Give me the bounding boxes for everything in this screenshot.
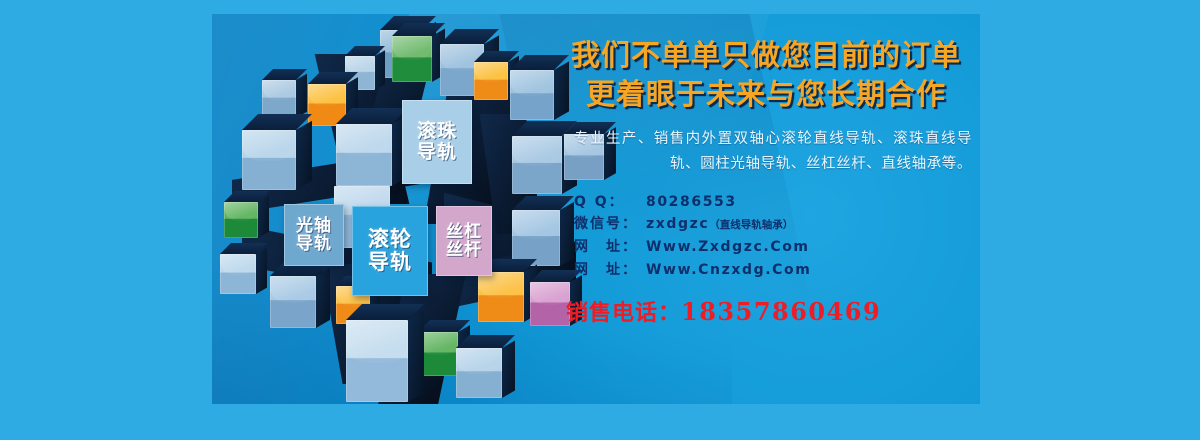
product-label-line: 丝杆	[446, 241, 482, 259]
contact-value-qq[interactable]: 80286553	[646, 191, 737, 214]
contact-label: Q Q：	[574, 191, 646, 214]
cube-front-face	[392, 36, 432, 82]
contact-value-wechat[interactable]: zxdgzc	[646, 213, 709, 236]
cube-green	[418, 332, 458, 376]
cube-front-face	[262, 80, 296, 118]
contact-note-wechat: （直线导轨轴承）	[709, 217, 793, 234]
cube-side-face	[256, 248, 267, 294]
contact-label: 微信号：	[574, 213, 646, 236]
cube-front-face	[336, 124, 392, 186]
cube	[262, 80, 296, 118]
cube-front-face	[456, 348, 502, 398]
cube-front-face	[474, 62, 508, 100]
product-label-line: 导轨	[417, 142, 457, 163]
product-label-line: 导轨	[368, 251, 412, 274]
banner-panel: 滚珠 导轨 光轴 导轨 滚轮 导轨 丝杠 丝杆 我们不单单只做您目前的订单 更着…	[212, 14, 980, 404]
cube	[336, 124, 392, 186]
cube-front-face	[270, 276, 316, 328]
product-label-gunlun-daogui[interactable]: 滚轮 导轨	[352, 206, 428, 296]
cube	[242, 130, 296, 190]
cube-front-face	[478, 272, 524, 322]
contact-row-wechat: 微信号： zxdgzc （直线导轨轴承）	[574, 213, 980, 236]
product-label-line: 滚珠	[417, 121, 457, 142]
cube-front-face	[220, 254, 256, 294]
product-label-guangzhou-daogui[interactable]: 光轴 导轨	[284, 204, 344, 266]
cube	[270, 276, 316, 328]
cube-side-face	[258, 196, 269, 238]
product-label-line: 导轨	[296, 235, 332, 253]
description: 专业生产、销售内外置双轴心滚轮直线导轨、滚珠直线导轨、圆柱光轴导轨、丝杠丝杆、直…	[552, 127, 980, 177]
cube-green	[224, 202, 258, 238]
product-label-gunzhu-daogui[interactable]: 滚珠 导轨	[402, 100, 472, 184]
cube-orange	[474, 62, 508, 100]
contact-list: Q Q： 80286553 微信号： zxdgzc （直线导轨轴承） 网 址： …	[552, 191, 980, 282]
contact-value-website-1[interactable]: Www.Zxdgzc.Com	[646, 236, 810, 259]
cube-front-face	[346, 320, 408, 402]
cube-side-face	[316, 268, 330, 328]
description-line: 专业生产、销售内外置双轴心滚轮直线导轨、	[574, 131, 893, 147]
cube-front-face	[224, 202, 258, 238]
contact-label: 网 址：	[574, 259, 646, 282]
headline-line: 更着眼于未来与您长期合作	[552, 75, 980, 114]
contact-row-website-1: 网 址： Www.Zxdgzc.Com	[574, 236, 980, 259]
cube-side-face	[502, 340, 515, 398]
product-label-line: 滚轮	[368, 228, 412, 251]
cube-front-face	[510, 70, 554, 120]
product-label-sigang-sigan[interactable]: 丝杠 丝杆	[436, 206, 492, 276]
contact-row-website-2: 网 址： Www.Cnzxdg.Com	[574, 259, 980, 282]
cube-side-face	[408, 311, 424, 402]
cube-front-face	[242, 130, 296, 190]
product-label-line: 丝杠	[446, 223, 482, 241]
banner-stage: 滚珠 导轨 光轴 导轨 滚轮 导轨 丝杠 丝杆 我们不单单只做您目前的订单 更着…	[0, 0, 1200, 440]
product-label-line: 光轴	[296, 217, 332, 235]
sales-phone[interactable]: 销售电话： 18357860469	[552, 295, 980, 327]
headline-line: 我们不单单只做您目前的订单	[552, 36, 980, 75]
cube-green	[392, 36, 432, 82]
cube-side-face	[375, 50, 385, 90]
description-line: 线轴承等。	[897, 156, 973, 172]
sales-phone-number[interactable]: 18357860469	[681, 297, 881, 326]
cube-side-face	[296, 74, 307, 118]
sales-phone-label: 销售电话：	[566, 295, 681, 327]
cube	[510, 70, 554, 120]
cube	[346, 320, 408, 402]
cube-front-face	[418, 332, 458, 376]
contact-label: 网 址：	[574, 236, 646, 259]
banner-text-column: 我们不单单只做您目前的订单 更着眼于未来与您长期合作 专业生产、销售内外置双轴心…	[552, 36, 980, 396]
cube-side-face	[296, 121, 312, 190]
cube-orange	[478, 272, 524, 322]
cube	[456, 348, 502, 398]
contact-row-qq: Q Q： 80286553	[574, 191, 980, 214]
cube	[220, 254, 256, 294]
contact-value-website-2[interactable]: Www.Cnzxdg.Com	[646, 259, 811, 282]
headline: 我们不单单只做您目前的订单 更着眼于未来与您长期合作	[552, 36, 980, 114]
